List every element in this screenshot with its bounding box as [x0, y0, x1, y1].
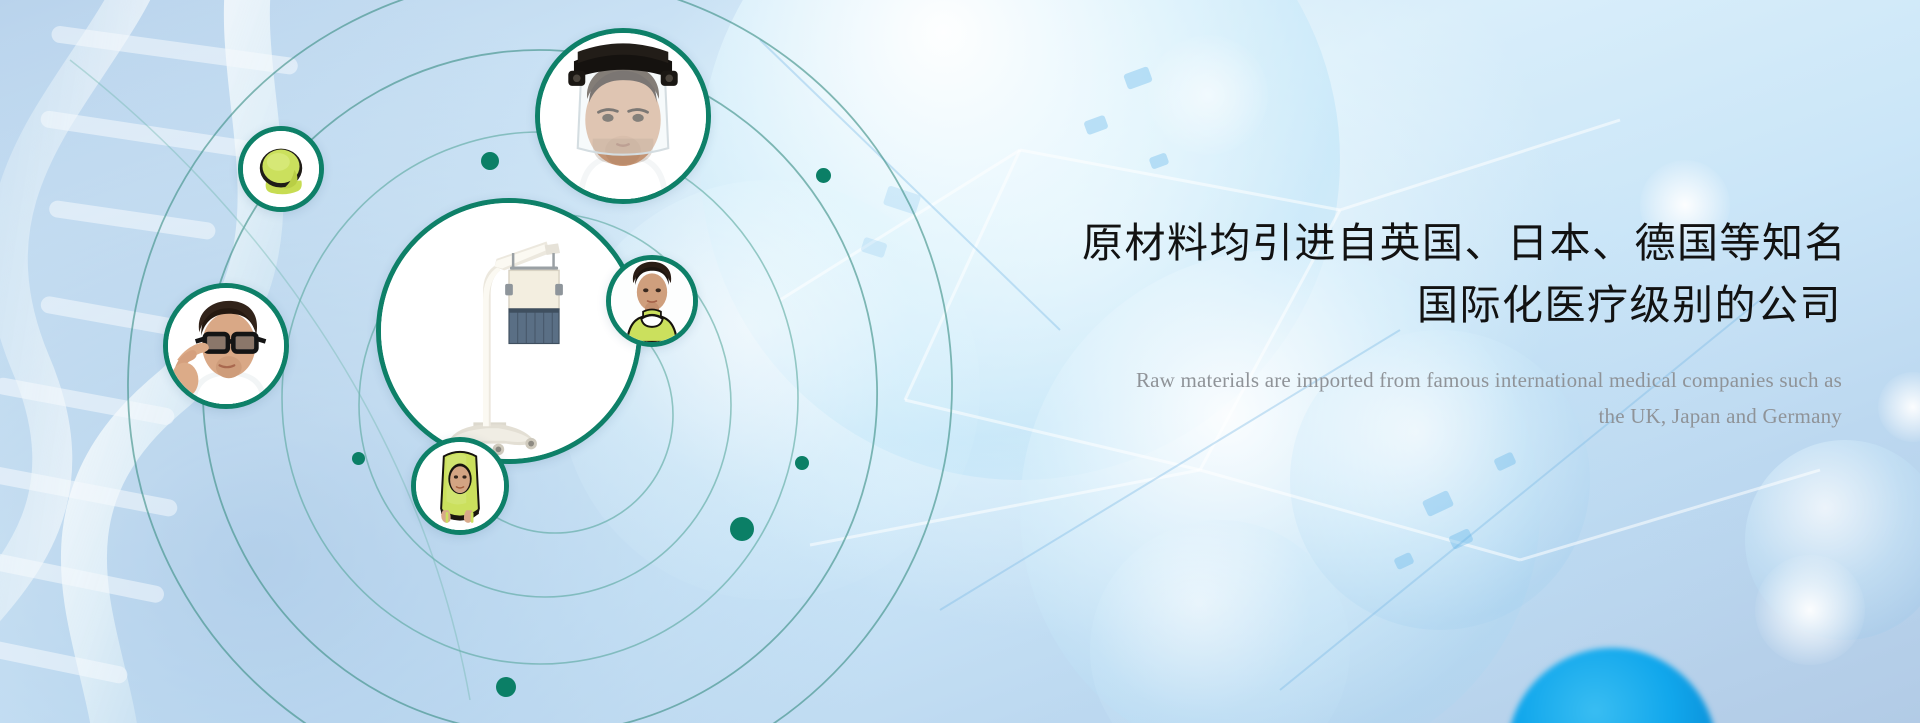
hero-banner: 原材料均引进自英国、日本、德国等知名 国际化医疗级别的公司 Raw materi…	[0, 0, 1920, 723]
orbit-dot-mid-right	[795, 456, 809, 470]
orbit-dot-left	[352, 452, 365, 465]
molecule-sphere-icon	[1745, 440, 1920, 640]
product-badge-thyroid-collar[interactable]	[606, 255, 698, 347]
glow-dot-icon	[1878, 372, 1920, 442]
product-badge-mobile-x-ray-shield[interactable]	[376, 198, 642, 464]
glow-dot-icon	[1148, 35, 1268, 155]
product-badge-face-shield-visor[interactable]	[535, 28, 711, 204]
product-badge-lead-cap[interactable]	[238, 126, 324, 212]
orbit-dot-top	[481, 152, 499, 170]
radiation-cap-icon	[243, 131, 319, 207]
hero-copy-block: 原材料均引进自英国、日本、德国等知名 国际化医疗级别的公司 Raw materi…	[1082, 212, 1842, 434]
orbit-dot-right-large	[730, 517, 754, 541]
blue-fleck-icon	[1123, 66, 1153, 90]
bright-blue-sphere-icon	[1507, 648, 1717, 723]
glow-dot-icon	[1755, 555, 1865, 665]
hero-headline: 原材料均引进自英国、日本、德国等知名 国际化医疗级别的公司	[1082, 212, 1842, 336]
blue-fleck-icon	[1393, 552, 1414, 570]
face-shield-portrait-icon	[540, 33, 706, 199]
blue-fleck-icon	[1422, 490, 1455, 517]
subcopy-line-2: the UK, Japan and Germany	[1598, 404, 1842, 428]
product-badge-protective-hood[interactable]	[411, 437, 509, 535]
headline-line-2: 国际化医疗级别的公司	[1082, 274, 1842, 336]
mobile-shield-stand-icon	[381, 203, 637, 459]
subcopy-line-1: Raw materials are imported from famous i…	[1136, 368, 1842, 392]
blue-fleck-icon	[1448, 528, 1474, 550]
product-badge-lead-glasses[interactable]	[163, 283, 289, 409]
orbit-dot-upper-right	[816, 168, 831, 183]
radiation-hood-icon	[416, 442, 504, 530]
headline-line-1: 原材料均引进自英国、日本、德国等知名	[1082, 219, 1847, 267]
blue-fleck-icon	[1493, 451, 1517, 471]
blue-fleck-icon	[1148, 152, 1169, 169]
molecule-sphere-icon	[1090, 520, 1350, 723]
thyroid-collar-icon	[611, 260, 693, 342]
hero-subcopy: Raw materials are imported from famous i…	[1082, 362, 1842, 434]
orbit-dot-bottom	[496, 677, 516, 697]
lead-glasses-portrait-icon	[168, 288, 284, 404]
